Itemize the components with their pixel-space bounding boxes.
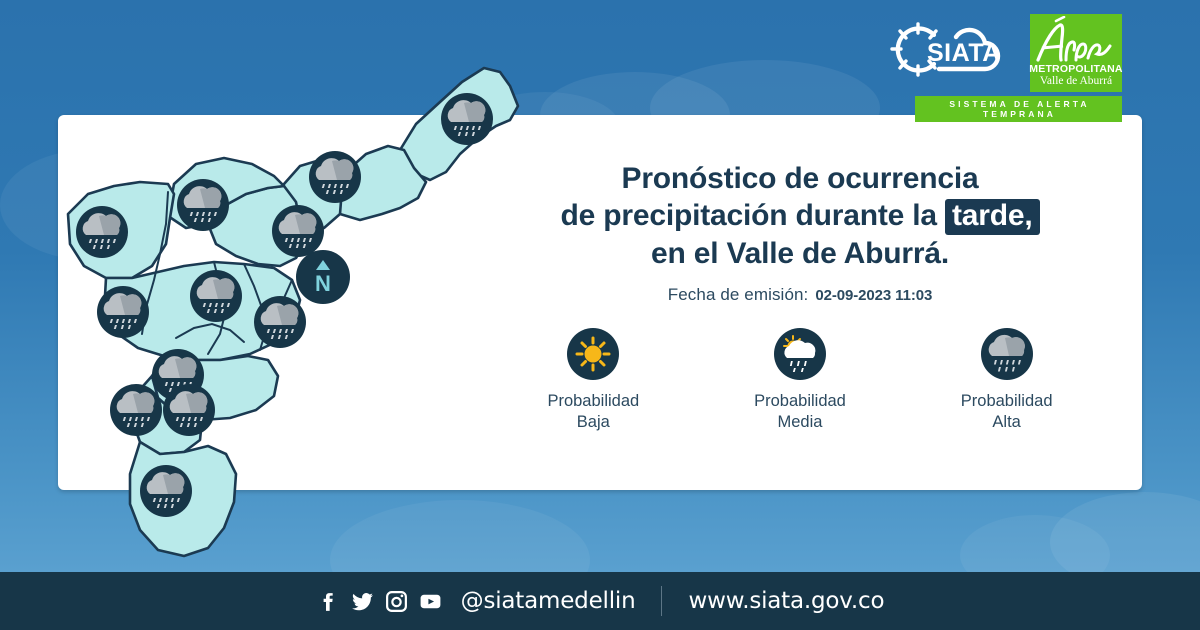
compass-rose: N xyxy=(296,250,350,304)
station-marker[interactable] xyxy=(163,384,215,436)
website-url[interactable]: www.siata.gov.co xyxy=(688,588,884,614)
probability-legend: Probabilidad Baja Prob xyxy=(490,328,1110,433)
station-marker[interactable] xyxy=(97,286,149,338)
siata-tagline: SISTEMA DE ALERTA TEMPRANA xyxy=(915,96,1122,122)
station-marker[interactable] xyxy=(76,206,128,258)
legend-label-line2: Baja xyxy=(577,413,610,431)
area-metropolitana-logo: METROPOLITANA Valle de Aburrá xyxy=(1030,14,1122,92)
title-line-1: Pronóstico de ocurrencia xyxy=(622,162,979,195)
legend-label-alta: Probabilidad Alta xyxy=(961,391,1053,433)
legend-label-media: Probabilidad Media xyxy=(754,391,846,433)
station-marker[interactable] xyxy=(177,179,229,231)
legend-label-line1: Probabilidad xyxy=(961,392,1053,410)
issue-date: Fecha de emisión: 02-09-2023 11:03 xyxy=(470,285,1130,305)
area-script-wordmark xyxy=(1030,16,1122,68)
station-marker[interactable] xyxy=(309,151,361,203)
svg-text:N: N xyxy=(315,271,331,296)
station-marker[interactable] xyxy=(272,205,324,257)
area-logo-line2: Valle de Aburrá xyxy=(1040,75,1112,88)
issue-date-value: 02-09-2023 11:03 xyxy=(815,287,932,304)
legend-label-line1: Probabilidad xyxy=(547,392,639,410)
valle-de-aburra-map[interactable]: N xyxy=(48,42,528,602)
footer-divider xyxy=(661,586,662,616)
station-marker[interactable] xyxy=(441,93,493,145)
page-title: Pronóstico de ocurrencia de precipitació… xyxy=(470,160,1130,272)
instagram-icon[interactable] xyxy=(384,589,409,614)
social-handle[interactable]: @siatamedellin xyxy=(461,588,636,614)
sun-icon xyxy=(567,328,619,380)
legend-item-baja[interactable]: Probabilidad Baja xyxy=(506,328,681,433)
title-line-2: de precipitación durante la xyxy=(561,199,937,232)
siata-logo: SIATA xyxy=(882,18,1020,88)
sun-cloud-rain-icon xyxy=(774,328,826,380)
station-marker[interactable] xyxy=(254,296,306,348)
legend-item-alta[interactable]: Probabilidad Alta xyxy=(919,328,1094,433)
logo-group: SIATA METROPOLITANA Valle de Aburrá SIST… xyxy=(882,14,1122,122)
title-line-3: en el Valle de Aburrá. xyxy=(651,237,949,270)
svg-text:SIATA: SIATA xyxy=(927,39,1001,67)
station-marker[interactable] xyxy=(190,270,242,322)
legend-label-line2: Media xyxy=(778,413,823,431)
legend-label-line2: Alta xyxy=(992,413,1020,431)
issue-date-label: Fecha de emisión: xyxy=(668,285,809,305)
title-highlight-period: tarde, xyxy=(945,199,1040,235)
facebook-icon[interactable] xyxy=(316,589,341,614)
footer-bar: @siatamedellin www.siata.gov.co xyxy=(0,572,1200,630)
station-marker[interactable] xyxy=(110,384,162,436)
youtube-icon[interactable] xyxy=(418,589,443,614)
forecast-text-block: Pronóstico de ocurrencia de precipitació… xyxy=(470,160,1130,305)
social-links xyxy=(316,589,443,614)
twitter-icon[interactable] xyxy=(350,589,375,614)
station-marker[interactable] xyxy=(140,465,192,517)
cloud-rain-icon xyxy=(981,328,1033,380)
legend-item-media[interactable]: Probabilidad Media xyxy=(712,328,887,433)
legend-label-line1: Probabilidad xyxy=(754,392,846,410)
legend-label-baja: Probabilidad Baja xyxy=(547,391,639,433)
